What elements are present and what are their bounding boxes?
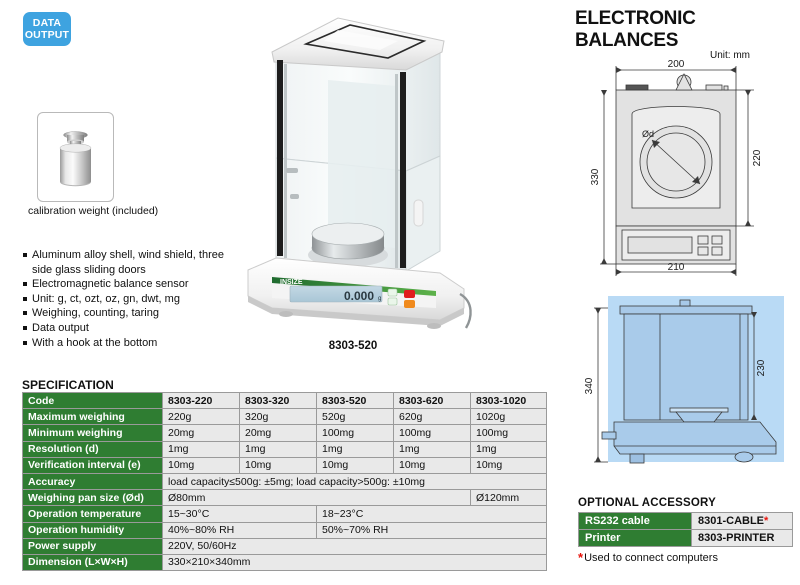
badge-line-1: DATA [23, 17, 71, 29]
spec-cell: 8303-620 [394, 393, 471, 409]
feature-item: Aluminum alloy shell, wind shield, three… [23, 248, 238, 277]
bullet-icon [23, 326, 27, 330]
feature-text: Unit: g, ct, ozt, oz, gn, dwt, mg [32, 292, 238, 307]
feature-text: Weighing, counting, taring [32, 306, 238, 321]
spec-cell: 100mg [394, 425, 471, 441]
bullet-icon [23, 282, 27, 286]
spec-cell: 10mg [163, 457, 240, 473]
asterisk-icon: * [578, 550, 583, 565]
spec-row-label: Operation humidity [23, 522, 163, 538]
side-view-drawing: 230 340 [584, 290, 796, 490]
spec-cell: 100mg [317, 425, 394, 441]
spec-cell: Ø80mm [163, 490, 471, 506]
dim-base-210: 210 [668, 262, 685, 273]
spec-row-label: Code [23, 393, 163, 409]
dim-chamber-230: 230 [756, 359, 767, 376]
spec-cell: 1mg [471, 441, 547, 457]
spec-cell: 320g [240, 409, 317, 425]
spec-cell: 10mg [240, 457, 317, 473]
spec-row-label: Verification interval (e) [23, 457, 163, 473]
spec-cell: 220g [163, 409, 240, 425]
accessory-table: RS232 cable8301-CABLE*Printer8303-PRINTE… [578, 512, 793, 547]
specification-table: Code8303-2208303-3208303-5208303-6208303… [22, 392, 547, 571]
spec-cell: 1mg [394, 441, 471, 457]
brand-mark: INSIZE [280, 279, 303, 286]
spec-cell: 620g [394, 409, 471, 425]
badge-line-2: OUTPUT [23, 29, 71, 41]
spec-cell: 18~23°C [317, 506, 547, 522]
dim-height-330: 330 [590, 168, 601, 185]
spec-cell: 8303-320 [240, 393, 317, 409]
catalog-page: DATA OUTPUT [0, 0, 800, 585]
table-row: Minimum weighing20mg20mg100mg100mg100mg [23, 425, 547, 441]
lcd-unit: g [378, 296, 381, 302]
accessory-code: 8303-PRINTER [692, 530, 793, 547]
lcd-value: 0.000 [344, 289, 374, 303]
table-row: Power supply220V, 50/60Hz [23, 538, 547, 554]
spec-row-label: Accuracy [23, 473, 163, 489]
calibration-weight-image [37, 112, 114, 202]
feature-item: With a hook at the bottom [23, 336, 238, 351]
table-row: Operation temperature15~30°C18~23°C [23, 506, 547, 522]
spec-cell: 8303-520 [317, 393, 394, 409]
table-row: Code8303-2208303-3208303-5208303-6208303… [23, 393, 547, 409]
dim-total-340: 340 [584, 377, 595, 394]
feature-text: With a hook at the bottom [32, 336, 238, 351]
product-photo: INSIZE 0.000 g [228, 8, 478, 338]
spec-cell: Ø120mm [471, 490, 547, 506]
specification-body: Code8303-2208303-3208303-5208303-6208303… [23, 393, 547, 571]
accessory-name: Printer [579, 530, 692, 547]
specification-title: SPECIFICATION [22, 378, 114, 392]
table-row: Printer8303-PRINTER [579, 530, 793, 547]
table-row: Maximum weighing220g320g520g620g1020g [23, 409, 547, 425]
bullet-icon [23, 253, 27, 257]
pan-diameter-label: Ød [642, 129, 654, 139]
accessory-note: *Used to connect computers [578, 550, 718, 565]
spec-cell: 10mg [394, 457, 471, 473]
accessory-name: RS232 cable [579, 513, 692, 530]
spec-row-label: Power supply [23, 538, 163, 554]
spec-cell: 1mg [163, 441, 240, 457]
feature-text: Data output [32, 321, 238, 336]
spec-cell: 520g [317, 409, 394, 425]
feature-text: Electromagnetic balance sensor [32, 277, 238, 292]
bullet-icon [23, 311, 27, 315]
front-view-drawing: 200 220 330 210 Ød [588, 58, 793, 278]
page-title: ELECTRONIC BALANCES [575, 8, 800, 52]
spec-cell: 220V, 50/60Hz [163, 538, 547, 554]
spec-cell: 100mg [471, 425, 547, 441]
spec-row-label: Minimum weighing [23, 425, 163, 441]
spec-cell: 1020g [471, 409, 547, 425]
bullet-icon [23, 297, 27, 301]
spec-cell: 20mg [163, 425, 240, 441]
feature-text: Aluminum alloy shell, wind shield, three… [32, 248, 238, 277]
spec-row-label: Maximum weighing [23, 409, 163, 425]
feature-item: Data output [23, 321, 238, 336]
accessory-body: RS232 cable8301-CABLE*Printer8303-PRINTE… [579, 513, 793, 547]
table-row: Verification interval (e)10mg10mg10mg10m… [23, 457, 547, 473]
spec-cell: 8303-1020 [471, 393, 547, 409]
product-model-label: 8303-520 [228, 340, 478, 352]
dim-width-200: 200 [668, 59, 685, 70]
spec-cell: 8303-220 [163, 393, 240, 409]
calibration-weight-caption: calibration weight (included) [28, 205, 218, 217]
spec-cell: 50%~70% RH [317, 522, 547, 538]
spec-cell: 330×210×340mm [163, 554, 547, 570]
spec-cell: 10mg [317, 457, 394, 473]
table-row: Dimension (L×W×H)330×210×340mm [23, 554, 547, 570]
spec-row-label: Weighing pan size (Ød) [23, 490, 163, 506]
data-output-badge: DATA OUTPUT [23, 12, 71, 46]
table-row: Accuracyload capacity≤500g: ±5mg; load c… [23, 473, 547, 489]
spec-cell: 15~30°C [163, 506, 317, 522]
feature-item: Electromagnetic balance sensor [23, 277, 238, 292]
bullet-icon [23, 341, 27, 345]
calibration-weight-icon [38, 113, 113, 201]
accessory-title: OPTIONAL ACCESSORY [578, 497, 716, 509]
table-row: Resolution (d)1mg1mg1mg1mg1mg [23, 441, 547, 457]
spec-cell: load capacity≤500g: ±5mg; load capacity>… [163, 473, 547, 489]
spec-cell: 40%~80% RH [163, 522, 317, 538]
spec-cell: 10mg [471, 457, 547, 473]
table-row: Weighing pan size (Ød)Ø80mmØ120mm [23, 490, 547, 506]
accessory-note-text: Used to connect computers [584, 552, 718, 564]
spec-row-label: Resolution (d) [23, 441, 163, 457]
spec-cell: 20mg [240, 425, 317, 441]
feature-list: Aluminum alloy shell, wind shield, three… [23, 248, 238, 350]
spec-cell: 1mg [240, 441, 317, 457]
spec-cell: 1mg [317, 441, 394, 457]
table-row: RS232 cable8301-CABLE* [579, 513, 793, 530]
spec-row-label: Operation temperature [23, 506, 163, 522]
table-row: Operation humidity40%~80% RH50%~70% RH [23, 522, 547, 538]
feature-item: Weighing, counting, taring [23, 306, 238, 321]
accessory-code: 8301-CABLE* [692, 513, 793, 530]
spec-row-label: Dimension (L×W×H) [23, 554, 163, 570]
feature-item: Unit: g, ct, ozt, oz, gn, dwt, mg [23, 292, 238, 307]
asterisk-icon: * [764, 515, 768, 527]
dim-height-220: 220 [752, 149, 763, 166]
